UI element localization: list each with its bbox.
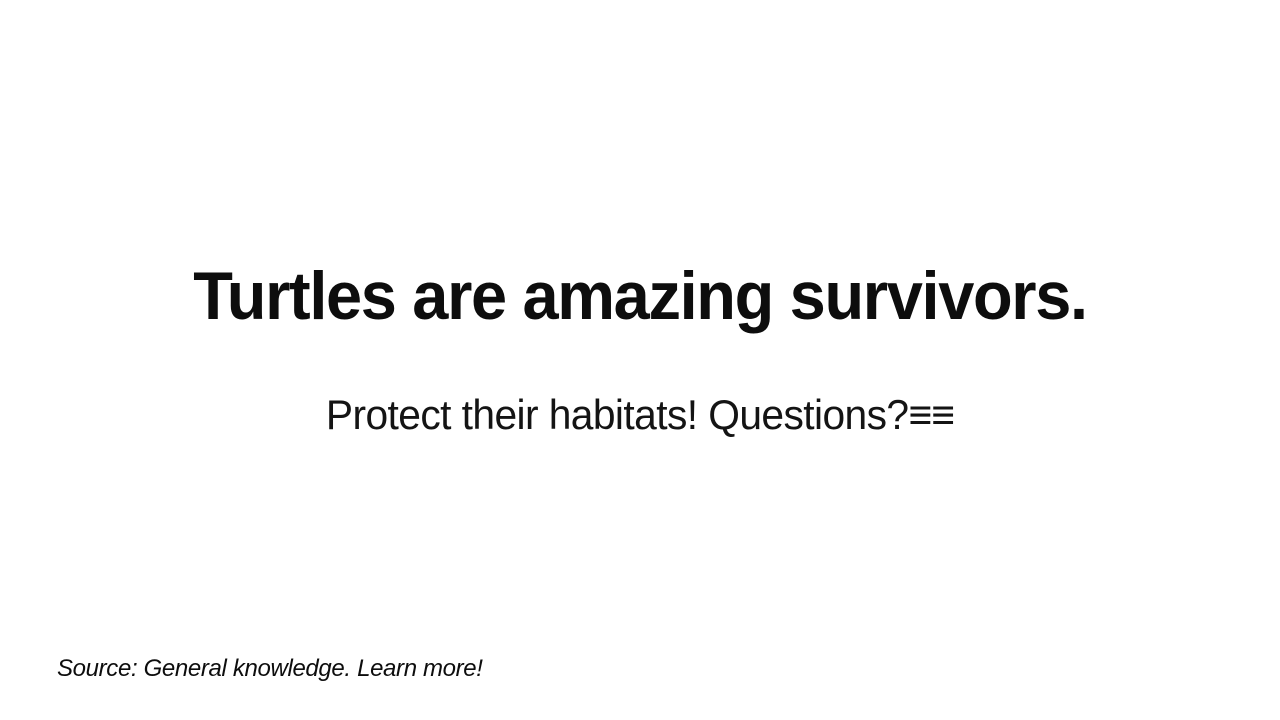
slide-canvas: Turtles are amazing survivors. Protect t… <box>0 0 1280 720</box>
slide-subtitle-text: Protect their habitats! Questions? <box>326 391 909 438</box>
slide-content-block: Turtles are amazing survivors. Protect t… <box>0 0 1280 720</box>
slide-source-note: Source: General knowledge. Learn more! <box>57 655 483 684</box>
triple-bar-glyphs-icon: ≡≡ <box>908 391 954 438</box>
slide-title: Turtles are amazing survivors. <box>105 260 1175 332</box>
slide-subtitle: Protect their habitats! Questions?≡≡ <box>97 390 1183 440</box>
